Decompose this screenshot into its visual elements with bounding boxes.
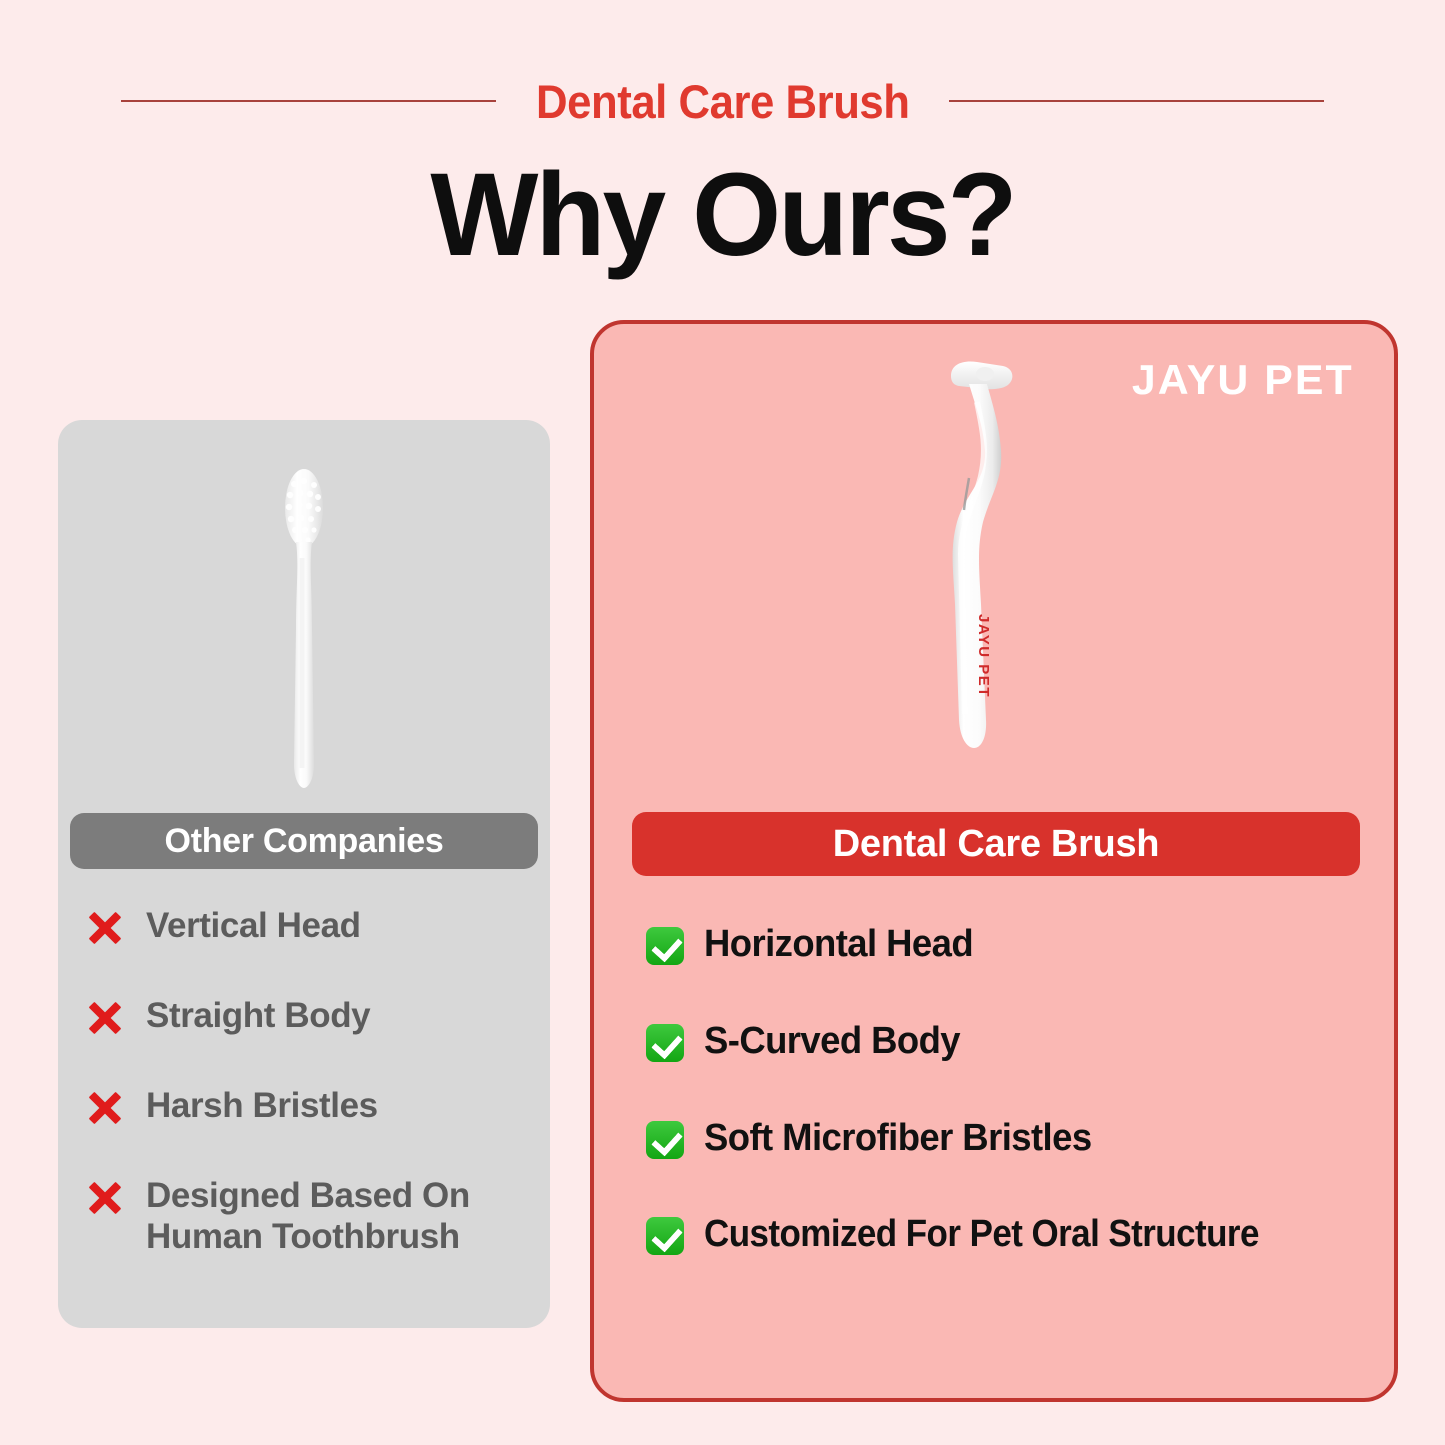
cross-icon xyxy=(86,999,124,1037)
list-item: Soft Microfiber Bristles xyxy=(646,1116,1386,1161)
competitor-label-pill: Other Companies xyxy=(70,813,538,869)
feature-label: Vertical Head xyxy=(146,905,361,946)
product-feature-list: Horizontal Head S-Curved Body Soft Micro… xyxy=(646,922,1386,1309)
competitor-label: Other Companies xyxy=(165,822,444,861)
feature-label: Harsh Bristles xyxy=(146,1085,378,1126)
list-item: Customized For Pet Oral Structure xyxy=(646,1212,1386,1257)
feature-label: Soft Microfiber Bristles xyxy=(704,1116,1092,1161)
list-item: Horizontal Head xyxy=(646,922,1386,967)
list-item: Designed Based On Human Toothbrush xyxy=(86,1175,546,1258)
check-icon xyxy=(646,927,684,965)
list-item: S-Curved Body xyxy=(646,1019,1386,1064)
promo-graphic: Dental Care Brush Why Ours? xyxy=(0,0,1445,1445)
list-item: Straight Body xyxy=(86,995,546,1037)
competitor-toothbrush-image xyxy=(244,468,364,808)
feature-label: Horizontal Head xyxy=(704,922,973,967)
rule-left-divider xyxy=(121,100,496,102)
brand-wordmark: JAYU PET xyxy=(1132,356,1354,404)
check-icon xyxy=(646,1024,684,1062)
cross-icon xyxy=(86,1089,124,1127)
competitor-feature-list: Vertical Head Straight Body Harsh Bristl… xyxy=(86,905,546,1306)
product-dental-brush-image xyxy=(907,354,1057,784)
rule-right-divider xyxy=(949,100,1324,102)
feature-label: Customized For Pet Oral Structure xyxy=(704,1212,1259,1257)
check-icon xyxy=(646,1121,684,1159)
cross-icon xyxy=(86,909,124,947)
product-label-pill: Dental Care Brush xyxy=(632,812,1360,876)
cross-icon xyxy=(86,1179,124,1217)
list-item: Harsh Bristles xyxy=(86,1085,546,1127)
page-title: Why Ours? xyxy=(22,156,1424,274)
feature-label: Straight Body xyxy=(146,995,370,1036)
eyebrow-title-row: Dental Care Brush xyxy=(0,66,1445,136)
check-icon xyxy=(646,1217,684,1255)
list-item: Vertical Head xyxy=(86,905,546,947)
feature-label: S-Curved Body xyxy=(704,1019,960,1064)
eyebrow-title: Dental Care Brush xyxy=(536,74,909,129)
handle-brand-print: JAYU PET xyxy=(975,614,992,698)
product-label: Dental Care Brush xyxy=(833,823,1159,866)
feature-label: Designed Based On Human Toothbrush xyxy=(146,1175,506,1258)
